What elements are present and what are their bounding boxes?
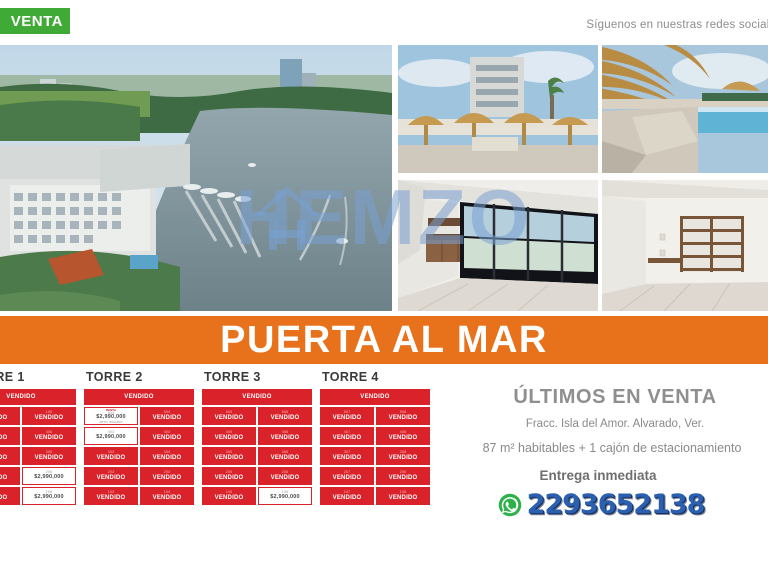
unit-cell-sold[interactable]: 305VENDIDO: [202, 447, 256, 465]
info-address: Fracc. Isla del Amor. Alvarado, Ver.: [450, 418, 768, 430]
unit-status: $2,990,000: [34, 495, 64, 501]
social-follow-text: Síguenos en nuestras redes sociales: [586, 19, 768, 31]
unit-row: 405VENDIDO406VENDIDO: [0, 427, 76, 445]
unit-status: VENDIDO: [0, 415, 7, 421]
unit-row: 507VENDIDO508VENDIDO: [320, 407, 430, 425]
unit-cell-sold[interactable]: 206VENDIDO: [258, 467, 312, 485]
unit-cell-sold[interactable]: 407VENDIDO: [320, 427, 374, 445]
unit-cell-available[interactable]: 403$2,990,000: [84, 427, 138, 445]
tower-column: TORRE 3VENDIDO505VENDIDO506VENDIDO405VEN…: [202, 370, 312, 507]
unit-status: VENDIDO: [215, 415, 244, 421]
aerial-marina-photo: [0, 45, 392, 311]
unit-status: VENDIDO: [97, 455, 126, 461]
unit-status: VENDIDO: [333, 495, 362, 501]
unit-status: VENDIDO: [35, 435, 64, 441]
unit-cell-available[interactable]: 106$2,990,000: [22, 487, 76, 505]
unit-status: VENDIDO: [35, 415, 64, 421]
unit-status: VENDIDO: [389, 455, 418, 461]
unit-status: VENDIDO: [97, 495, 126, 501]
unit-cell-sold[interactable]: 205VENDIDO: [0, 467, 20, 485]
unit-status: VENDIDO: [153, 475, 182, 481]
whatsapp-contact[interactable]: 2293652138: [422, 491, 768, 518]
unit-status: VENDIDO: [0, 435, 7, 441]
pool-palapa-photo: [602, 45, 768, 173]
palapa-tower-photo: [398, 45, 598, 173]
unit-cell-sold[interactable]: 406VENDIDO: [258, 427, 312, 445]
unit-status: VENDIDO: [333, 415, 362, 421]
unit-status: VENDIDO: [389, 435, 418, 441]
unit-cell-sold[interactable]: 105VENDIDO: [202, 487, 256, 505]
living-room-photo: [398, 180, 598, 311]
unit-cell-sold[interactable]: 406VENDIDO: [22, 427, 76, 445]
unit-status: VENDIDO: [271, 475, 300, 481]
unit-row: 105VENDIDO106VENDIDO: [0, 407, 76, 425]
unit-status: VENDIDO: [389, 495, 418, 501]
unit-row: 203VENDIDO204VENDIDO: [84, 467, 194, 485]
tower-header-status: VENDIDO: [0, 389, 76, 405]
tower-title: TORRE 2: [86, 370, 194, 384]
unit-status: VENDIDO: [389, 475, 418, 481]
unit-cell-available[interactable]: RENTA503$2,990,000MTTO. INCLUIDO: [84, 407, 138, 425]
unit-row: 105VENDIDO106$2,990,000: [0, 487, 76, 505]
unit-row: 405VENDIDO406VENDIDO: [202, 427, 312, 445]
unit-cell-sold[interactable]: 504VENDIDO: [140, 407, 194, 425]
tower-header-status: VENDIDO: [84, 389, 194, 405]
info-panel: ÚLTIMOS EN VENTA Fracc. Isla del Amor. A…: [450, 386, 768, 518]
unit-status: VENDIDO: [35, 455, 64, 461]
unit-cell-available[interactable]: 206$2,990,000: [22, 467, 76, 485]
tower-column: TORRE 1VENDIDO105VENDIDO106VENDIDO405VEN…: [0, 370, 76, 507]
unit-status: VENDIDO: [0, 475, 7, 481]
unit-cell-sold[interactable]: 508VENDIDO: [376, 407, 430, 425]
unit-cell-sold[interactable]: 408VENDIDO: [376, 427, 430, 445]
tower-column: TORRE 4VENDIDO507VENDIDO508VENDIDO407VEN…: [320, 370, 430, 507]
tower-title: TORRE 4: [322, 370, 430, 384]
tower-column: TORRE 2VENDIDORENTA503$2,990,000MTTO. IN…: [84, 370, 194, 507]
unit-cell-sold[interactable]: 308VENDIDO: [376, 447, 430, 465]
tower-title: TORRE 1: [0, 370, 76, 384]
unit-status: VENDIDO: [0, 455, 7, 461]
venta-badge: VENTA: [0, 8, 70, 34]
unit-row: 403$2,990,000404VENDIDO: [84, 427, 194, 445]
top-bar: VENTA Síguenos en nuestras redes sociale…: [0, 0, 768, 42]
unit-status: VENDIDO: [271, 455, 300, 461]
unit-cell-sold[interactable]: 105VENDIDO: [0, 407, 20, 425]
unit-status: VENDIDO: [215, 435, 244, 441]
unit-status: VENDIDO: [97, 475, 126, 481]
unit-row: 505VENDIDO506VENDIDO: [202, 407, 312, 425]
unit-status: VENDIDO: [215, 495, 244, 501]
unit-status: $2,990,000: [96, 435, 126, 441]
unit-cell-sold[interactable]: 205VENDIDO: [202, 467, 256, 485]
unit-status: VENDIDO: [333, 455, 362, 461]
unit-cell-sold[interactable]: 207VENDIDO: [320, 467, 374, 485]
unit-status: $2,990,000: [34, 475, 64, 481]
unit-cell-sold[interactable]: 103VENDIDO: [84, 487, 138, 505]
phone-number[interactable]: 2293652138: [527, 491, 705, 518]
shelving-room-photo: [602, 180, 768, 311]
unit-status: VENDIDO: [0, 495, 7, 501]
unit-cell-sold[interactable]: 506VENDIDO: [258, 407, 312, 425]
info-delivery: Entrega inmediata: [416, 468, 768, 483]
unit-cell-sold[interactable]: 306VENDIDO: [22, 447, 76, 465]
unit-cell-sold[interactable]: 106VENDIDO: [22, 407, 76, 425]
tower-header-status: VENDIDO: [202, 389, 312, 405]
unit-status: VENDIDO: [333, 435, 362, 441]
page-title: PUERTA AL MAR: [220, 321, 548, 359]
unit-row: 407VENDIDO408VENDIDO: [320, 427, 430, 445]
unit-cell-sold[interactable]: 405VENDIDO: [202, 427, 256, 445]
unit-cell-sold[interactable]: 104VENDIDO: [140, 487, 194, 505]
unit-row: 307VENDIDO308VENDIDO: [320, 447, 430, 465]
unit-cell-sold[interactable]: 505VENDIDO: [202, 407, 256, 425]
unit-cell-sold[interactable]: 507VENDIDO: [320, 407, 374, 425]
unit-row: 205VENDIDO206VENDIDO: [202, 467, 312, 485]
unit-cell-sold[interactable]: 307VENDIDO: [320, 447, 374, 465]
unit-row: 107VENDIDO108VENDIDO: [320, 487, 430, 505]
unit-status: VENDIDO: [153, 435, 182, 441]
unit-status: VENDIDO: [153, 415, 182, 421]
unit-row: RENTA503$2,990,000MTTO. INCLUIDO504VENDI…: [84, 407, 194, 425]
availability-grid: TORRE 1VENDIDO105VENDIDO106VENDIDO405VEN…: [0, 370, 446, 535]
unit-status: VENDIDO: [153, 495, 182, 501]
unit-row: 305VENDIDO306VENDIDO: [202, 447, 312, 465]
unit-status: VENDIDO: [389, 415, 418, 421]
unit-cell-sold[interactable]: 404VENDIDO: [140, 427, 194, 445]
unit-status: VENDIDO: [215, 475, 244, 481]
unit-status: $2,990,000: [270, 495, 300, 501]
unit-note-bottom: MTTO. INCLUIDO: [100, 421, 123, 424]
unit-status: VENDIDO: [271, 435, 300, 441]
unit-cell-sold[interactable]: 305VENDIDO: [0, 447, 20, 465]
title-banner: PUERTA AL MAR: [0, 316, 768, 364]
unit-cell-available[interactable]: 106$2,990,000: [258, 487, 312, 505]
unit-row: 305VENDIDO306VENDIDO: [0, 447, 76, 465]
flyer-page: VENTA Síguenos en nuestras redes sociale…: [0, 0, 768, 576]
photo-collage: HEMZO: [0, 42, 768, 314]
unit-cell-sold[interactable]: 303VENDIDO: [84, 447, 138, 465]
unit-row: 105VENDIDO106$2,990,000: [202, 487, 312, 505]
unit-status: VENDIDO: [215, 455, 244, 461]
whatsapp-icon[interactable]: [498, 493, 522, 517]
unit-cell-sold[interactable]: 107VENDIDO: [320, 487, 374, 505]
info-heading: ÚLTIMOS EN VENTA: [450, 386, 768, 409]
unit-cell-sold[interactable]: 306VENDIDO: [258, 447, 312, 465]
unit-row: 205VENDIDO206$2,990,000: [0, 467, 76, 485]
unit-cell-sold[interactable]: 304VENDIDO: [140, 447, 194, 465]
unit-cell-sold[interactable]: 105VENDIDO: [0, 487, 20, 505]
unit-cell-sold[interactable]: 203VENDIDO: [84, 467, 138, 485]
unit-status: VENDIDO: [271, 415, 300, 421]
tower-title: TORRE 3: [204, 370, 312, 384]
unit-row: 303VENDIDO304VENDIDO: [84, 447, 194, 465]
unit-row: 103VENDIDO104VENDIDO: [84, 487, 194, 505]
unit-cell-sold[interactable]: 405VENDIDO: [0, 427, 20, 445]
unit-status: VENDIDO: [333, 475, 362, 481]
unit-cell-sold[interactable]: 204VENDIDO: [140, 467, 194, 485]
unit-row: 207VENDIDO208VENDIDO: [320, 467, 430, 485]
info-specs: 87 m² habitables + 1 cajón de estacionam…: [444, 441, 768, 455]
tower-header-status: VENDIDO: [320, 389, 430, 405]
unit-status: VENDIDO: [153, 455, 182, 461]
